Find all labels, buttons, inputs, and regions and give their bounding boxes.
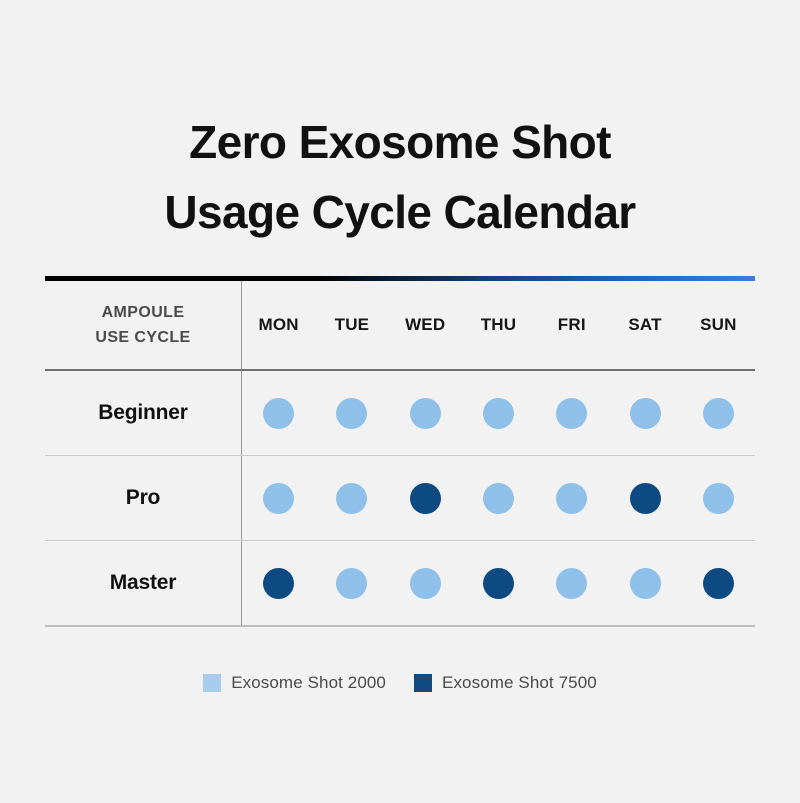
legend: Exosome Shot 2000 Exosome Shot 7500: [0, 627, 800, 693]
row-dots-beginner: [242, 370, 756, 456]
table-row: Master: [45, 541, 755, 627]
dose-dot-light: [556, 568, 587, 599]
dot-slot-thu: [462, 398, 535, 429]
table-row: Beginner: [45, 370, 755, 456]
dot-slot-wed: [389, 398, 462, 429]
dose-dot-light: [556, 398, 587, 429]
dot-slot-sat: [608, 483, 681, 514]
dose-dot-light: [336, 568, 367, 599]
day-header-thu: THU: [462, 315, 535, 335]
dots-row: [242, 398, 755, 429]
dot-slot-sat: [608, 398, 681, 429]
dot-slot-mon: [242, 398, 315, 429]
dot-slot-tue: [315, 483, 388, 514]
day-header-wed: WED: [389, 315, 462, 335]
dot-slot-thu: [462, 483, 535, 514]
day-header-tue: TUE: [315, 315, 388, 335]
dose-dot-light: [336, 398, 367, 429]
dose-dot-dark: [630, 483, 661, 514]
dose-dot-light: [410, 568, 441, 599]
dot-slot-fri: [535, 483, 608, 514]
legend-swatch-dark-icon: [414, 674, 432, 692]
table-header-row: AMPOULE USE CYCLE MON TUE WED THU FRI SA…: [45, 281, 755, 371]
dot-slot-mon: [242, 483, 315, 514]
dose-dot-light: [263, 398, 294, 429]
dose-dot-light: [336, 483, 367, 514]
dots-row: [242, 483, 755, 514]
dose-dot-light: [630, 398, 661, 429]
ampoule-use-cycle-header: AMPOULE USE CYCLE: [45, 281, 242, 371]
day-header-sun: SUN: [682, 315, 755, 335]
row-dots-pro: [242, 456, 756, 541]
dose-dot-dark: [703, 568, 734, 599]
cycle-header-line-2: USE CYCLE: [45, 325, 241, 350]
legend-swatch-light-icon: [203, 674, 221, 692]
usage-cycle-infographic: Zero Exosome Shot Usage Cycle Calendar A…: [0, 0, 800, 803]
dot-slot-fri: [535, 568, 608, 599]
day-header-fri: FRI: [535, 315, 608, 335]
dose-dot-dark: [483, 568, 514, 599]
dot-slot-sun: [682, 398, 755, 429]
table-body: AMPOULE USE CYCLE MON TUE WED THU FRI SA…: [45, 281, 755, 627]
dose-dot-light: [410, 398, 441, 429]
dot-slot-fri: [535, 398, 608, 429]
dot-slot-sun: [682, 568, 755, 599]
dose-dot-light: [630, 568, 661, 599]
dot-slot-wed: [389, 568, 462, 599]
legend-label: Exosome Shot 7500: [442, 673, 597, 693]
dose-dot-light: [703, 398, 734, 429]
dot-slot-sat: [608, 568, 681, 599]
title-line-1: Zero Exosome Shot: [0, 108, 800, 178]
row-label-pro: Pro: [45, 456, 242, 541]
dose-dot-light: [263, 483, 294, 514]
dots-row: [242, 568, 755, 599]
row-label-text: Beginner: [98, 401, 187, 424]
dot-slot-sun: [682, 483, 755, 514]
page-title: Zero Exosome Shot Usage Cycle Calendar: [0, 0, 800, 248]
dose-dot-light: [556, 483, 587, 514]
dose-dot-dark: [263, 568, 294, 599]
cycle-header-line-1: AMPOULE: [45, 300, 241, 325]
row-dots-master: [242, 541, 756, 627]
dot-slot-wed: [389, 483, 462, 514]
table-row: Pro: [45, 456, 755, 541]
dose-dot-dark: [410, 483, 441, 514]
dot-slot-tue: [315, 398, 388, 429]
title-line-2: Usage Cycle Calendar: [0, 178, 800, 248]
usage-cycle-table: AMPOULE USE CYCLE MON TUE WED THU FRI SA…: [45, 281, 755, 628]
day-headers-row: MON TUE WED THU FRI SAT SUN: [242, 315, 755, 335]
legend-item-exosome-shot-7500: Exosome Shot 7500: [414, 673, 597, 693]
day-header-mon: MON: [242, 315, 315, 335]
dose-dot-light: [703, 483, 734, 514]
dot-slot-tue: [315, 568, 388, 599]
legend-item-exosome-shot-2000: Exosome Shot 2000: [203, 673, 386, 693]
dose-dot-light: [483, 483, 514, 514]
row-label-text: Master: [110, 571, 177, 594]
row-label-master: Master: [45, 541, 242, 627]
row-label-text: Pro: [126, 486, 160, 509]
legend-label: Exosome Shot 2000: [231, 673, 386, 693]
row-label-beginner: Beginner: [45, 370, 242, 456]
day-headers: MON TUE WED THU FRI SAT SUN: [242, 281, 756, 371]
calendar-container: AMPOULE USE CYCLE MON TUE WED THU FRI SA…: [45, 248, 755, 628]
dot-slot-thu: [462, 568, 535, 599]
dot-slot-mon: [242, 568, 315, 599]
dose-dot-light: [483, 398, 514, 429]
day-header-sat: SAT: [608, 315, 681, 335]
